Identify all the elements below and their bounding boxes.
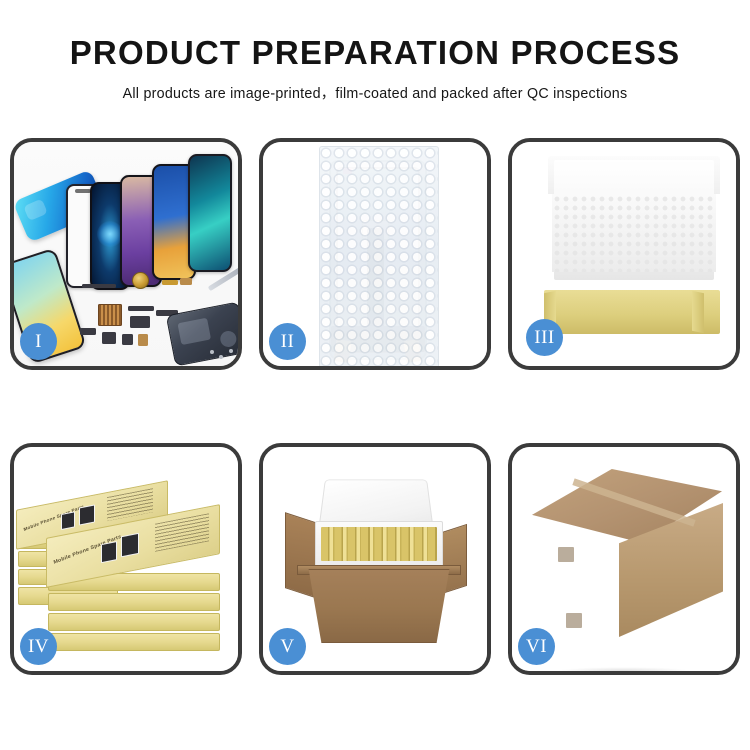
box-spec-lines [107, 488, 153, 521]
step-badge-v: V [269, 628, 306, 665]
bubble-wrap-bag-icon [319, 146, 439, 366]
bracket-icon [138, 334, 148, 346]
box-window-icon [101, 541, 117, 563]
gold-flex-icon [162, 280, 178, 285]
page-title: PRODUCT PREPARATION PROCESS [0, 36, 750, 71]
taptic-engine-icon [102, 332, 116, 344]
spare-parts-cluster [76, 266, 238, 362]
yellow-boxes-row-icon [321, 527, 437, 561]
sim-tray-icon [80, 328, 96, 335]
tweezers-icon [208, 266, 238, 291]
carton-tab-upper-icon [558, 547, 574, 562]
box-brand-label: Mobile Phone Spare Parts [23, 504, 84, 532]
box-window-icon [61, 511, 75, 530]
vibration-motor-icon [132, 272, 149, 289]
screws-icon [210, 348, 238, 362]
ribbon-cable-icon [128, 306, 154, 311]
header: PRODUCT PREPARATION PROCESS All products… [0, 0, 750, 103]
step-panel-iii: III [508, 138, 740, 370]
step-badge-iii: III [526, 319, 563, 356]
foam-sheet-icon [552, 194, 716, 272]
drop-shadow [557, 667, 691, 671]
box-spec-lines [155, 513, 209, 551]
carton-tab-lower-icon [566, 613, 582, 628]
step-panel-iv: Mobile Phone Spare Parts Mobile Phone Sp… [10, 443, 242, 675]
carton-front-wall-icon [299, 569, 459, 643]
connector-block-icon [130, 316, 150, 328]
steps-grid: I II [10, 138, 740, 675]
step-panel-ii: II [259, 138, 491, 370]
notch-icon [75, 189, 91, 193]
step-badge-i: I [20, 323, 57, 360]
step-panel-v: V [259, 443, 491, 675]
step-badge-ii: II [269, 323, 306, 360]
phone-teal-icon [188, 154, 232, 272]
yellow-box-lip-right-icon [692, 291, 704, 334]
box-side [48, 593, 220, 611]
box-side [48, 633, 220, 651]
step-badge-iv: IV [20, 628, 57, 665]
chip-grid-icon [98, 304, 122, 326]
box-window-icon [79, 504, 95, 525]
product-preparation-infographic: PRODUCT PREPARATION PROCESS All products… [0, 0, 750, 750]
camera-flex-icon [180, 278, 192, 285]
step-panel-vi: VI [508, 443, 740, 675]
box-side [48, 613, 220, 631]
step-panel-i: I [10, 138, 242, 370]
earpiece-icon [122, 334, 133, 345]
speaker-mesh-icon [82, 284, 116, 288]
box-window-icon [121, 533, 139, 557]
page-subtitle: All products are image-printed，film-coat… [0, 82, 750, 103]
step-badge-vi: VI [518, 628, 555, 665]
